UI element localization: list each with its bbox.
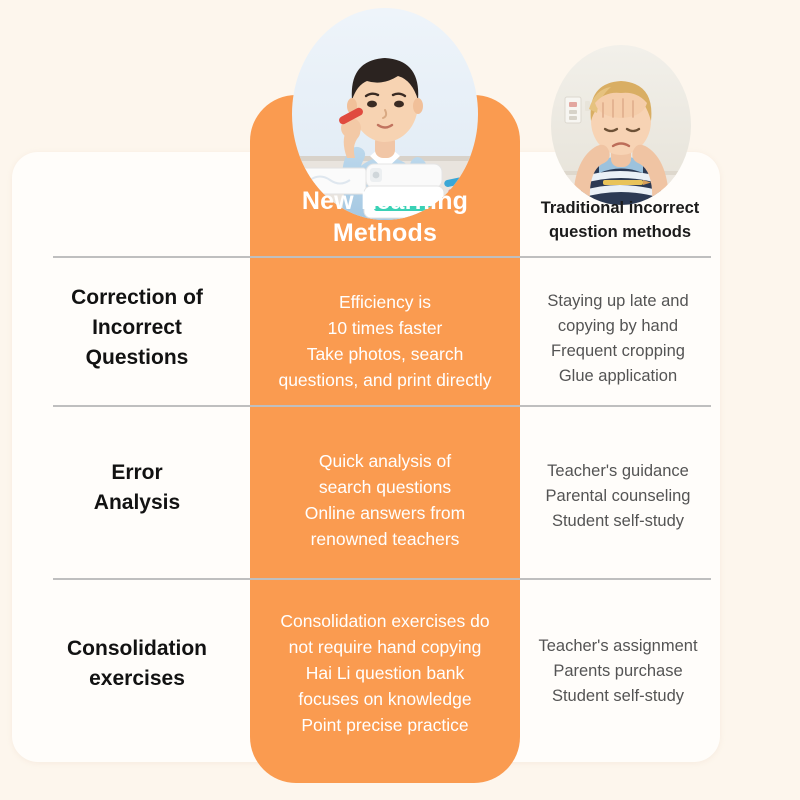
row-traditional-error-analysis: Teacher's guidance Parental counseling S… (522, 459, 714, 534)
row-new-method-error-analysis: Quick analysis of search questions Onlin… (252, 448, 518, 552)
row-new-method-consolidation: Consolidation exercises do not require h… (252, 608, 518, 738)
traditional-method-column-title: Traditional incorrect question methods (521, 196, 719, 244)
row-divider-2 (53, 405, 711, 407)
frustrated-boy-photo (551, 45, 691, 205)
row-traditional-correction: Staying up late and copying by hand Freq… (522, 289, 714, 389)
row-label-consolidation: Consolidation exercises (24, 634, 250, 694)
row-traditional-consolidation: Teacher's assignment Parents purchase St… (522, 634, 714, 709)
row-divider-1 (53, 256, 711, 258)
row-new-method-correction: Efficiency is 10 times faster Take photo… (252, 289, 518, 393)
row-label-error-analysis: Error Analysis (24, 458, 250, 518)
row-divider-3 (53, 578, 711, 580)
comparison-infographic: New Learning Methods Traditional incorre… (0, 0, 800, 800)
new-method-column-title: New Learning Methods (258, 185, 512, 249)
row-label-correction: Correction of Incorrect Questions (24, 283, 250, 373)
